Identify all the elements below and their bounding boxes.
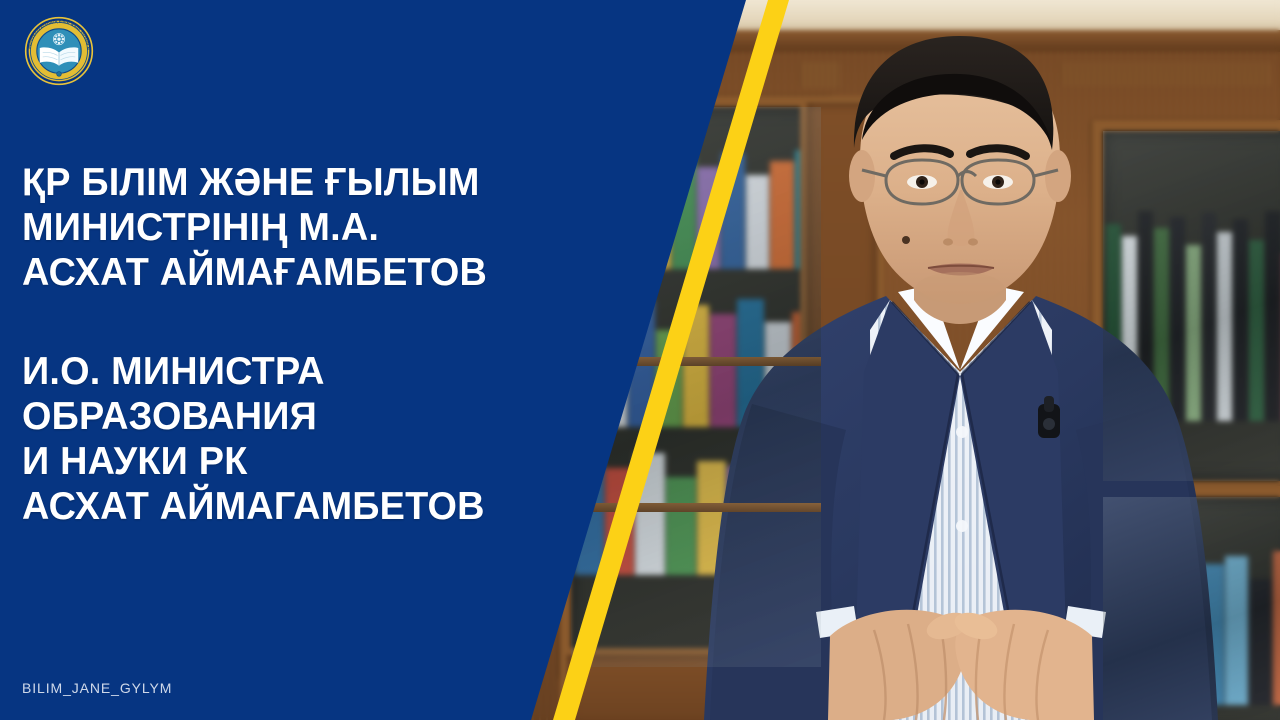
ear-right [1045,150,1071,202]
facial-mole [902,236,910,244]
headline-ru-line-4: АСХАТ АЙМАГАМБЕТОВ [22,484,604,529]
announcement-banner: ҚАЗАҚСТАН РЕСПУБЛИКАСЫНЫҢ БІЛІМ ЖӘНЕ ҒЫЛ… [0,0,1280,720]
headline-ru-line-3: И НАУКИ РК [22,439,604,484]
headline-russian: И.О. МИНИСТРА ОБРАЗОВАНИЯ И НАУКИ РК АСХ… [22,349,622,529]
headline-kk-line-3: АСХАТ АЙМАҒАМБЕТОВ [22,250,604,295]
headline-ru-line-2: ОБРАЗОВАНИЯ [22,394,604,439]
headline-spacer [22,295,622,349]
arm-right [1076,404,1212,720]
headline-text-block: ҚР БІЛІМ ЖӘНЕ ҒЫЛЫМ МИНИСТРІНІҢ М.А. АСХ… [22,160,622,529]
headline-ru-line-1: И.О. МИНИСТРА [22,349,604,394]
ministry-emblem: ҚАЗАҚСТАН РЕСПУБЛИКАСЫНЫҢ БІЛІМ ЖӘНЕ ҒЫЛ… [22,14,96,88]
headline-kk-line-1: ҚР БІЛІМ ЖӘНЕ ҒЫЛЫМ [22,160,604,205]
headline-kk-line-2: МИНИСТРІНІҢ М.А. [22,205,604,250]
headline-kazakh: ҚР БІЛІМ ЖӘНЕ ҒЫЛЫМ МИНИСТРІНІҢ М.А. АСХ… [22,160,622,295]
ear-left [849,150,875,202]
channel-watermark: BILIM_JANE_GYLYM [22,680,172,696]
emblem-star-ornament [53,34,64,45]
arm-left [710,404,846,720]
shirt-button [956,520,968,532]
shirt-button [956,426,968,438]
